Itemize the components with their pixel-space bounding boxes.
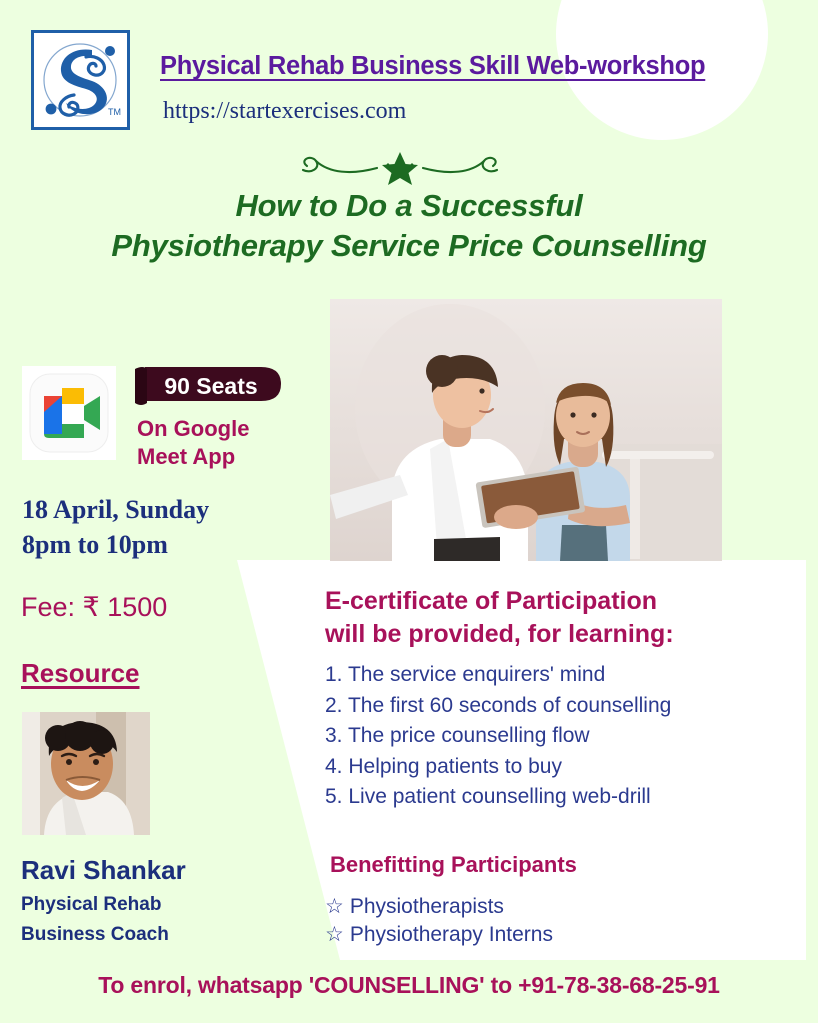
- list-item: 5. Live patient counselling web-drill: [325, 782, 671, 813]
- list-item: 1. The service enquirers' mind: [325, 660, 671, 691]
- enrolment-cta: To enrol, whatsapp 'COUNSELLING' to +91-…: [0, 972, 818, 999]
- platform-line-2: Meet App: [137, 443, 249, 471]
- certificate-heading-line-2: will be provided, for learning:: [325, 618, 795, 651]
- speaker-role: Physical Rehab Business Coach: [21, 890, 169, 950]
- brand-logo: TM: [31, 30, 130, 130]
- speaker-portrait: [22, 712, 150, 835]
- certificate-heading-line-1: E-certificate of Participation: [325, 585, 795, 618]
- seats-badge-label: 90 Seats: [131, 363, 283, 409]
- benefits-list: ☆Physiotherapists ☆Physiotherapy Interns: [325, 893, 553, 949]
- speaker-role-line-1: Physical Rehab: [21, 890, 169, 920]
- list-item: 3. The price counselling flow: [325, 721, 671, 752]
- consultation-photo: [330, 299, 722, 561]
- event-datetime: 18 April, Sunday 8pm to 10pm: [22, 492, 209, 562]
- speaker-role-line-2: Business Coach: [21, 920, 169, 950]
- list-item: 4. Helping patients to buy: [325, 752, 671, 783]
- learning-list: 1. The service enquirers' mind 2. The fi…: [325, 660, 671, 813]
- benefit-label: Physiotherapy Interns: [350, 923, 553, 946]
- platform-label: On Google Meet App: [137, 415, 249, 471]
- event-date: 18 April, Sunday: [22, 492, 209, 527]
- google-meet-icon: [22, 366, 116, 460]
- svg-text:TM: TM: [108, 107, 121, 117]
- header: TM Physical Rehab Business Skill Web-wor…: [0, 0, 818, 145]
- list-item: ☆Physiotherapists: [325, 893, 553, 921]
- seats-badge: 90 Seats: [131, 363, 283, 409]
- list-item: ☆Physiotherapy Interns: [325, 921, 553, 949]
- page-title: How to Do a Successful Physiotherapy Ser…: [0, 186, 818, 266]
- fee-label: Fee: ₹ 1500: [21, 592, 167, 623]
- platform-line-1: On Google: [137, 415, 249, 443]
- benefit-label: Physiotherapists: [350, 895, 504, 918]
- workshop-title: Physical Rehab Business Skill Web-worksh…: [160, 52, 705, 81]
- list-item: 2. The first 60 seconds of counselling: [325, 691, 671, 722]
- event-time: 8pm to 10pm: [22, 527, 209, 562]
- page-title-line-2: Physiotherapy Service Price Counselling: [0, 226, 818, 266]
- star-icon: ☆: [325, 923, 344, 946]
- benefits-heading: Benefitting Participants: [330, 852, 577, 878]
- resource-heading: Resource: [21, 658, 140, 689]
- page-title-line-1: How to Do a Successful: [236, 188, 583, 223]
- website-url[interactable]: https://startexercises.com: [163, 98, 406, 125]
- flyer-page: TM Physical Rehab Business Skill Web-wor…: [0, 0, 818, 1023]
- flourish-ornament: [289, 146, 511, 186]
- star-icon: ☆: [325, 895, 344, 918]
- speaker-name: Ravi Shankar: [21, 855, 186, 886]
- certificate-heading: E-certificate of Participation will be p…: [325, 585, 795, 651]
